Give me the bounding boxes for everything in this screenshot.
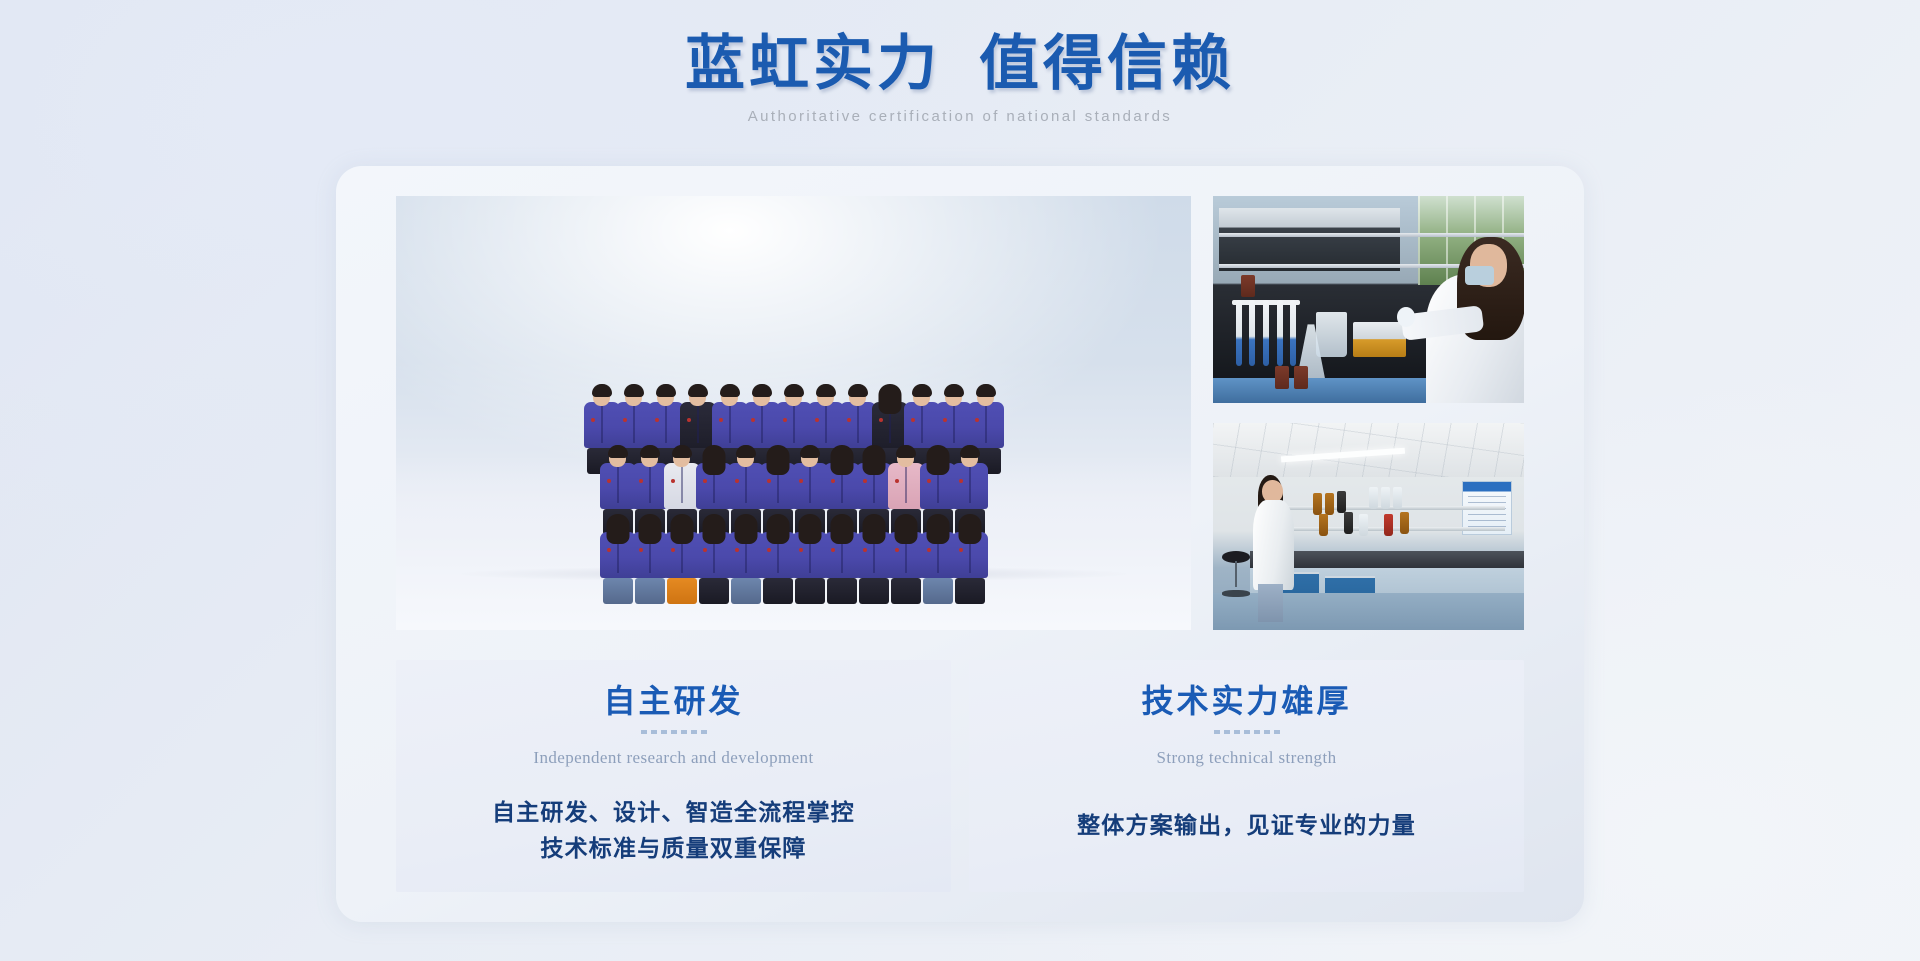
reagent-bottle: [1384, 514, 1393, 536]
card-divider-dots: [1214, 730, 1280, 734]
card-english-subtitle: Independent research and development: [533, 748, 813, 768]
reagent-bottle: [1313, 493, 1322, 515]
lab-sample-rack: [1353, 322, 1406, 357]
card-divider-dots: [641, 730, 707, 734]
card-title: 自主研发: [603, 684, 743, 719]
reagent-bottle: [1369, 487, 1378, 509]
reagent-bottle: [1393, 487, 1402, 509]
reagent-bottle: [1275, 366, 1289, 389]
lab-beaker: [1316, 312, 1347, 358]
company-team-group-photo: [396, 196, 1191, 630]
card-description: 自主研发、设计、智造全流程掌控 技术标准与质量双重保障: [492, 795, 855, 866]
reagent-bottle: [1344, 512, 1353, 534]
reagent-bottle: [1400, 512, 1409, 534]
lab-researcher-figure: [1253, 477, 1293, 622]
group-photo-people: [396, 196, 1191, 630]
card-english-subtitle: Strong technical strength: [1157, 748, 1337, 768]
pipette-stand: [1232, 300, 1300, 366]
lab-upper-cabinet: [1219, 208, 1399, 270]
reagent-bottle: [1241, 275, 1255, 298]
card-description: 整体方案输出，见证专业的力量: [1077, 808, 1416, 844]
card-title: 技术实力雄厚: [1141, 684, 1351, 719]
laboratory-room-photo: [1213, 423, 1524, 630]
reagent-bottle: [1381, 487, 1390, 509]
reagent-bottle: [1325, 493, 1334, 515]
lab-technician-pipettes-photo: [1213, 196, 1524, 403]
feature-card-technical-strength[interactable]: 技术实力雄厚 Strong technical strength 整体方案输出，…: [969, 660, 1524, 892]
page-title: 蓝虹实力 值得信赖: [0, 30, 1920, 99]
feature-cards: 自主研发 Independent research and developmen…: [396, 660, 1524, 892]
page-header: 蓝虹实力 值得信赖 Authoritative certification of…: [0, 0, 1920, 125]
lab-technician-figure: [1400, 237, 1524, 403]
reagent-bottle: [1337, 491, 1346, 513]
feature-card-independent-rd[interactable]: 自主研发 Independent research and developmen…: [396, 660, 951, 892]
page-subtitle: Authoritative certification of national …: [0, 108, 1920, 125]
reagent-bottle: [1359, 514, 1368, 536]
reagent-bottle: [1319, 514, 1328, 536]
lab-stool: [1222, 551, 1250, 597]
content-panel: 自主研发 Independent research and developmen…: [336, 166, 1584, 922]
reagent-bottle: [1294, 366, 1308, 389]
media-gallery: [396, 196, 1524, 630]
